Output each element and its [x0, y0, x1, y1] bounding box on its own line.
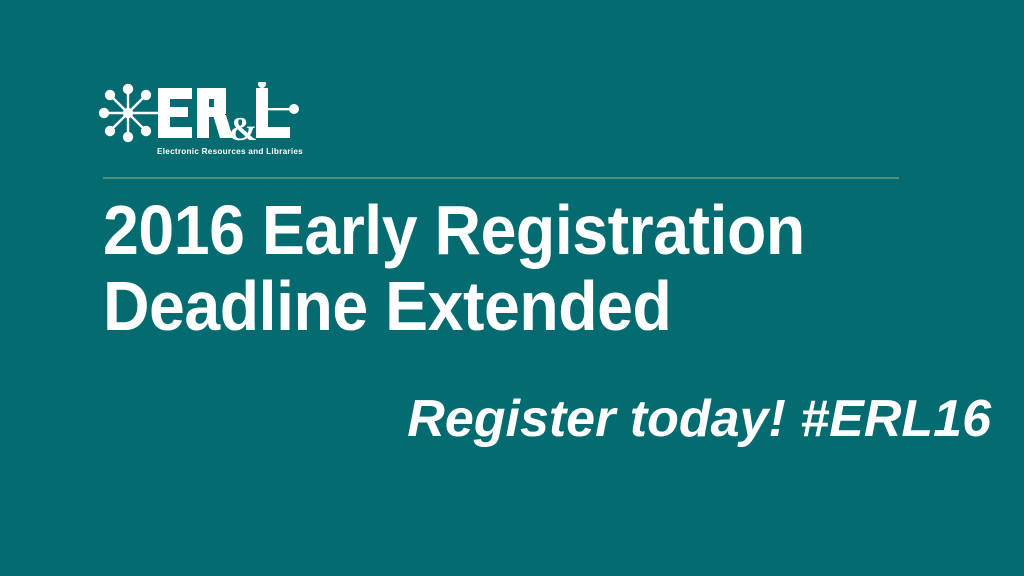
page-title-line-2: Deadline Extended: [103, 268, 839, 344]
horizontal-divider: [103, 177, 899, 179]
page-title: 2016 Early Registration Deadline Extende…: [103, 192, 839, 344]
ampersand-glyph: &: [229, 111, 257, 144]
starburst-icon: [99, 84, 158, 142]
slide-canvas: & Electronic Resources and Libraries 201…: [0, 0, 1024, 576]
erl-logo-mark: &: [96, 82, 306, 144]
logo-tagline: Electronic Resources and Libraries: [150, 147, 310, 156]
page-title-line-1: 2016 Early Registration: [103, 192, 839, 268]
call-to-action-subtitle: Register today! #ERL16: [103, 390, 991, 448]
erl-logo: & Electronic Resources and Libraries: [96, 82, 316, 168]
